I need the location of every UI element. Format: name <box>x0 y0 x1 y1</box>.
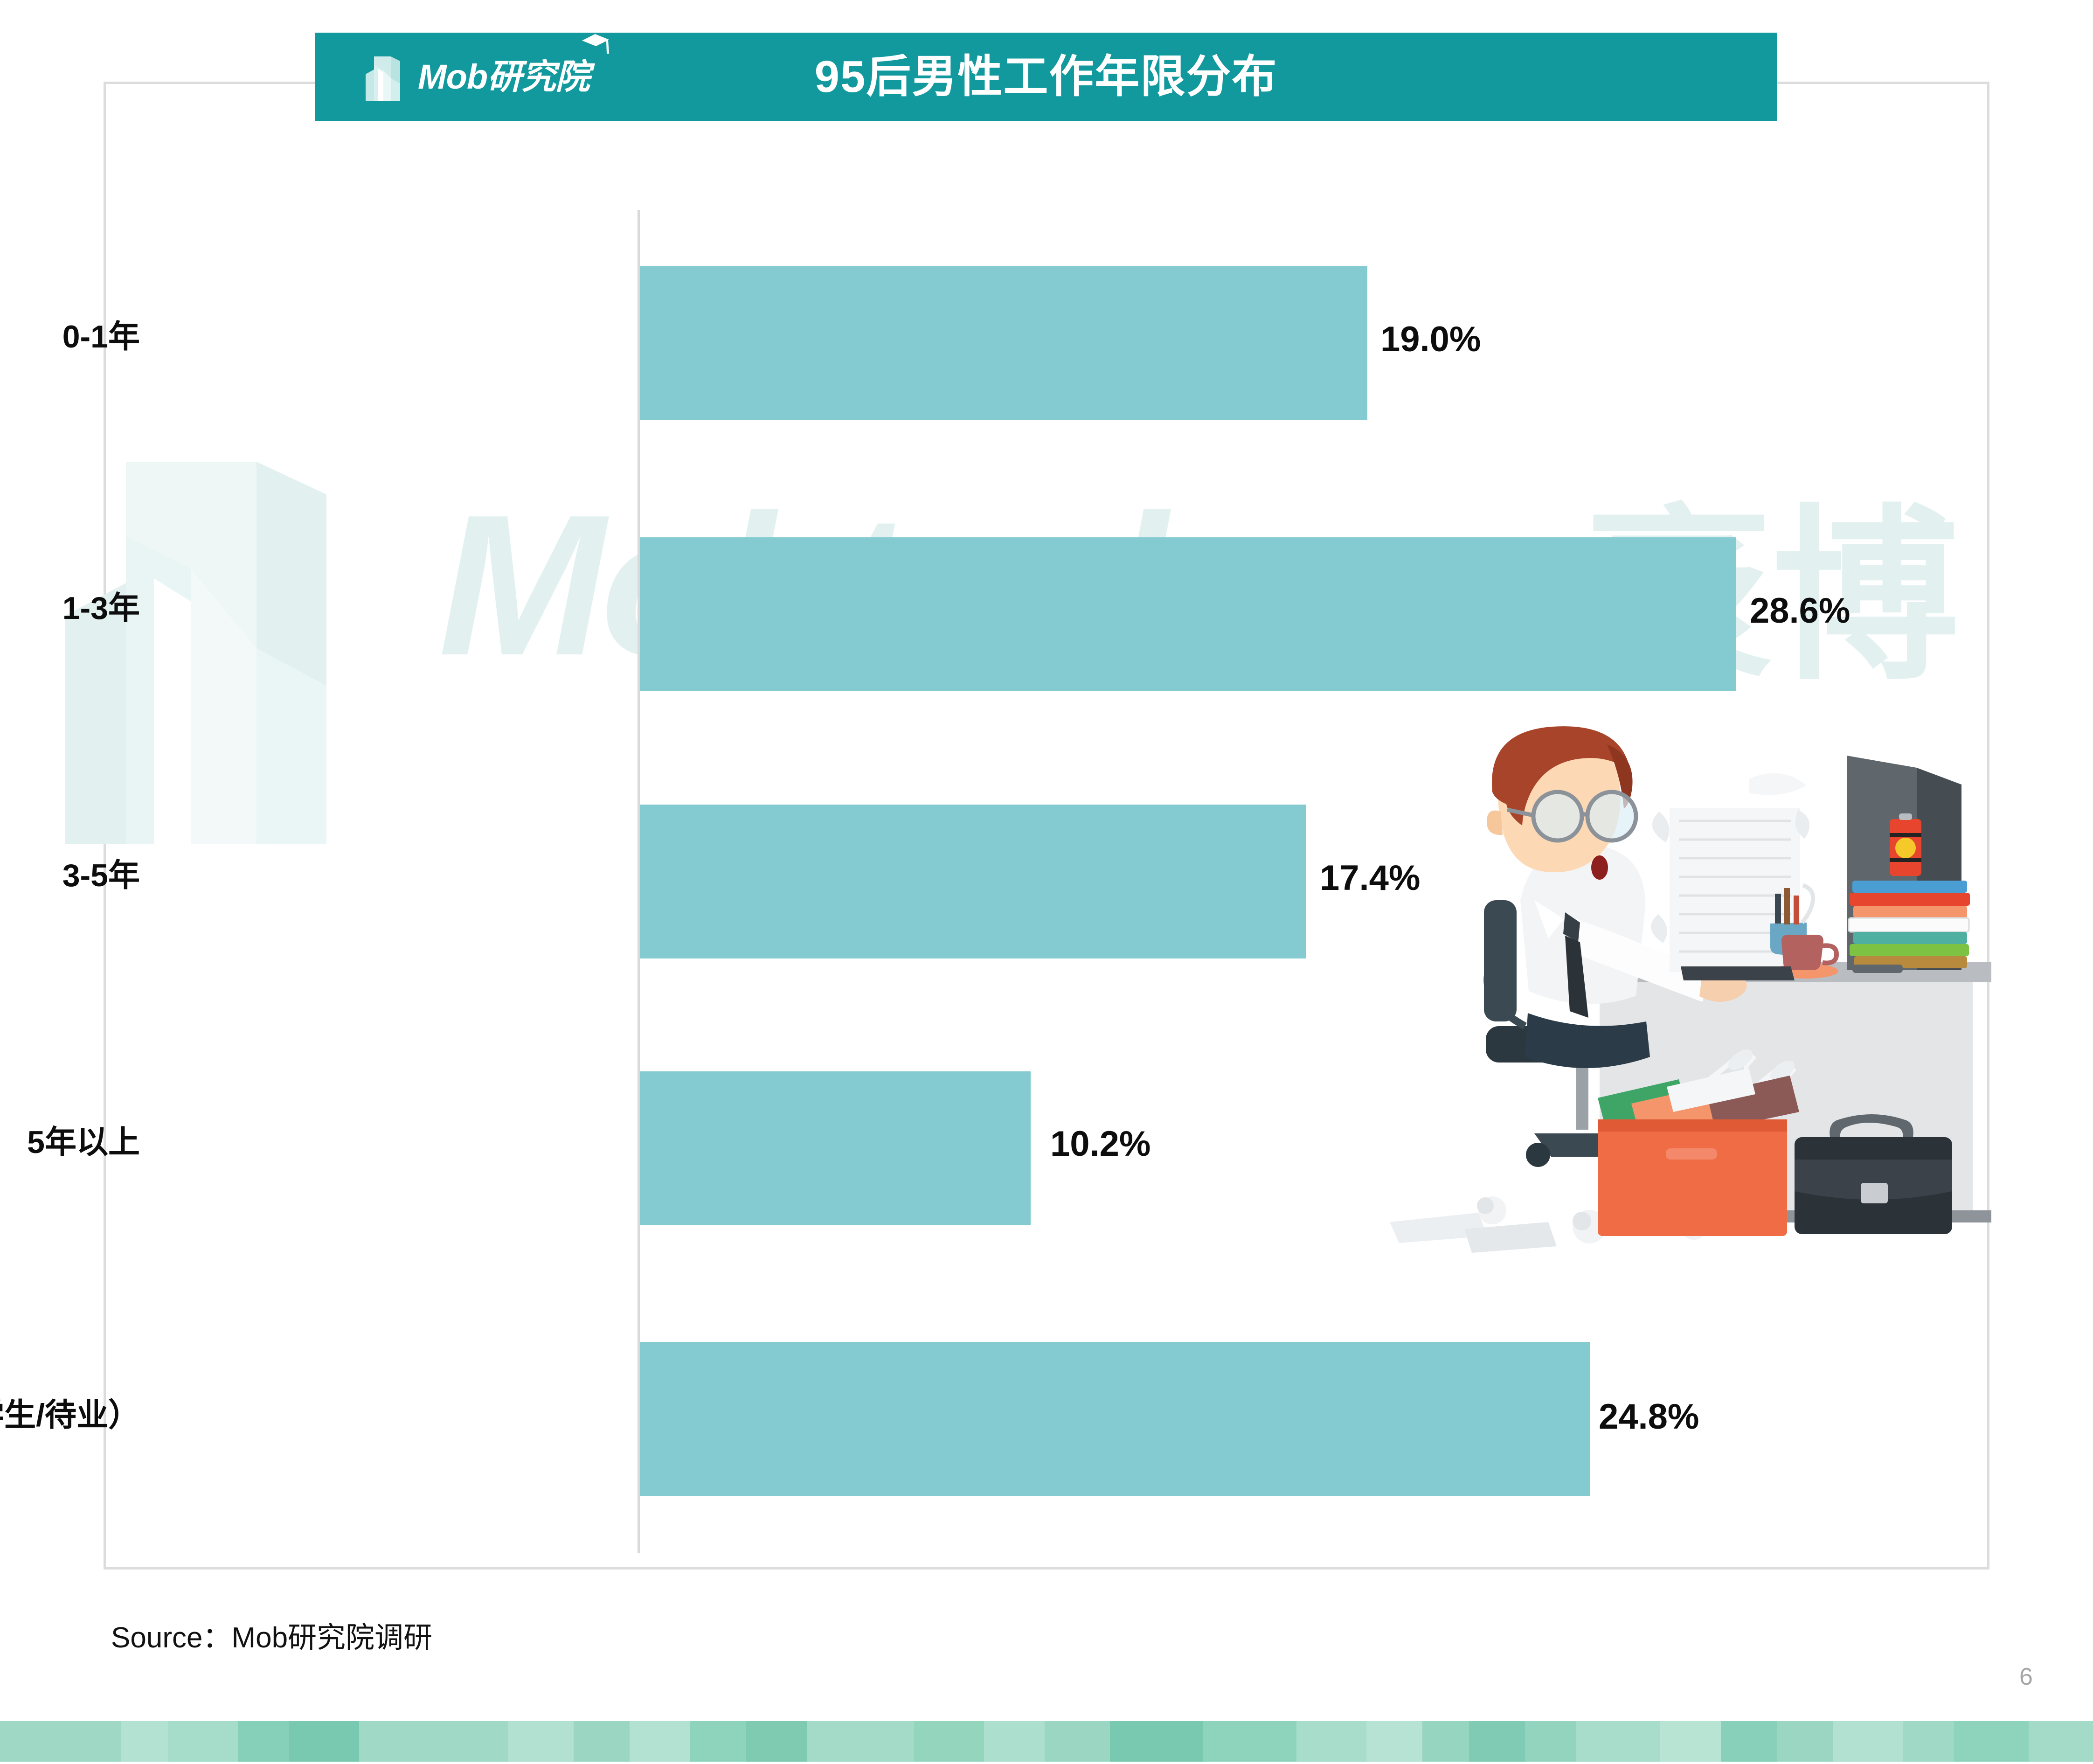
bar-category-label: 1-3年 <box>0 592 140 624</box>
bar-segment[interactable] <box>640 1342 1590 1496</box>
bar-segment[interactable] <box>640 1071 1031 1225</box>
bar-value-label: 24.8% <box>1599 1399 1699 1435</box>
bar-category-label: 未工作（学生/待业） <box>0 1399 140 1431</box>
bar-segment[interactable] <box>640 537 1736 691</box>
bar-value-label: 19.0% <box>1380 322 1481 357</box>
bar-segment[interactable] <box>640 805 1306 958</box>
header-band: Mob研究院 95后男性工作年限分布 <box>315 33 1777 121</box>
bar-category-label: 5年以上 <box>0 1126 140 1158</box>
bar-category-label: 0-1年 <box>0 321 140 353</box>
office-worker-illustration <box>1380 700 1991 1259</box>
graduation-cap-icon <box>581 33 611 56</box>
bar-value-label: 10.2% <box>1050 1126 1151 1162</box>
page-title: 95后男性工作年限分布 <box>315 55 1777 99</box>
bar-value-label: 28.6% <box>1750 593 1850 629</box>
bar-category-label: 3-5年 <box>0 860 140 891</box>
bar-segment[interactable] <box>640 266 1367 420</box>
